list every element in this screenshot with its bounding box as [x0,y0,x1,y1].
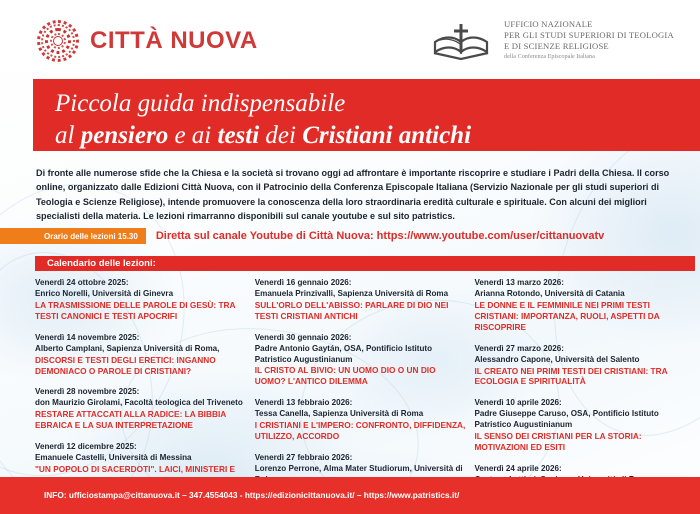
lesson-date: Venerdì 30 gennaio 2026: [255,333,466,344]
lesson-date: Venerdì 10 aprile 2026: [474,398,695,409]
title-seg-e-ai: e ai [168,122,217,149]
lesson-date: Venerdì 14 novembre 2025: [35,333,246,344]
calendar-heading: Calendario delle lezioni: [35,256,695,271]
lesson-date: Venerdì 24 ottobre 2025: [35,278,246,289]
ufficio-nazionale-logo: UFFICIO NAZIONALE PER GLI STUDI SUPERIOR… [430,18,674,62]
citta-nuova-logo: CITTÀ NUOVA [37,20,258,62]
lesson-entry: Venerdì 13 marzo 2026: Arianna Rotondo, … [474,278,695,333]
ufficio-line-3: E DI SCIENZE RELIGIOSE [504,41,674,52]
lesson-title: LE DONNE E IL FEMMINILE NEI PRIMI TESTI … [474,300,695,333]
title-line-1: Piccola guida indispensabile [55,88,700,120]
ufficio-line-1: UFFICIO NAZIONALE [504,19,674,30]
lesson-entry: Venerdì 27 marzo 2026: Alessandro Capone… [474,344,695,388]
lesson-date: Venerdì 12 dicembre 2025: [35,442,246,453]
title-seg-cristiani-antichi: Cristiani antichi [302,122,471,149]
title-seg-dei: dei [259,122,302,149]
lesson-title: I CRISTIANI E L'IMPERO: CONFRONTO, DIFFI… [255,420,466,442]
poster-title-band: Piccola guida indispensabile al pensiero… [33,79,700,151]
ufficio-nazionale-text: UFFICIO NAZIONALE PER GLI STUDI SUPERIOR… [504,19,674,61]
lesson-date: Venerdì 28 novembre 2025: [35,387,246,398]
title-line-2: al pensiero e ai testi dei Cristiani ant… [55,120,700,152]
ufficio-line-4: della Conferenza Episcopale Italiana [504,53,674,61]
poster-canvas: CITTÀ NUOVA UFFICIO NAZIONALE PER GLI ST… [0,0,700,514]
lesson-entry: Venerdì 10 aprile 2026: Padre Giuseppe C… [474,398,695,453]
lesson-entry: Venerdì 14 novembre 2025: Alberto Campla… [35,333,246,377]
lesson-date: Venerdì 27 marzo 2026: [474,344,695,355]
title-seg-pensiero: pensiero [81,122,169,149]
poster-footer: INFO: ufficiostampa@cittanuova.it – 347.… [0,477,700,514]
title-seg-testi: testi [218,122,260,149]
lesson-date: Venerdì 24 aprile 2026: [474,464,695,475]
citta-nuova-sunburst-icon [37,20,79,62]
lesson-speaker: Arianna Rotondo, Università di Catania [474,289,695,300]
lesson-date: Venerdì 27 febbraio 2026: [255,453,466,464]
calendar-column-3: Venerdì 13 marzo 2026: Arianna Rotondo, … [474,278,695,473]
lesson-speaker: Padre Antonio Gaytán, OSA, Pontificio Is… [255,344,466,366]
lesson-speaker: Enrico Norelli, Università di Ginevra [35,289,246,300]
lesson-speaker: Alberto Camplani, Sapienza Università di… [35,344,246,355]
open-book-cross-icon [430,18,492,62]
lesson-speaker: Tessa Canella, Sapienza Università di Ro… [255,409,466,420]
lesson-title: LA TRASMISSIONE DELLE PAROLE DI GESÙ: TR… [35,300,246,322]
live-schedule-row: Orario delle lezioni 15.30 Diretta sul c… [0,228,604,244]
orario-badge: Orario delle lezioni 15.30 [0,228,146,244]
lesson-title: SULL'ORLO DELL'ABISSO: PARLARE DI DIO NE… [255,300,466,322]
lesson-title: DISCORSI E TESTI DEGLI ERETICI: INGANNO … [35,355,246,377]
footer-contact-info[interactable]: INFO: ufficiostampa@cittanuova.it – 347.… [44,490,459,500]
title-seg-al: al [55,122,81,149]
ufficio-line-2: PER GLI STUDI SUPERIORI DI TEOLOGIA [504,30,674,41]
lesson-title: IL CREATO NEI PRIMI TESTI DEI CRISTIANI:… [474,366,695,388]
lesson-title: IL SENSO DEI CRISTIANI PER LA STORIA: MO… [474,431,695,453]
lesson-date: Venerdì 16 gennaio 2026: [255,278,466,289]
lesson-entry: Venerdì 28 novembre 2025: don Maurizio G… [35,387,246,431]
lesson-entry: Venerdì 24 ottobre 2025: Enrico Norelli,… [35,278,246,322]
lesson-speaker: Emanuele Castelli, Università di Messina [35,453,246,464]
brand-name: CITTÀ NUOVA [90,27,258,55]
lesson-title: RESTARE ATTACCATI ALLA RADICE: LA BIBBIA… [35,409,246,431]
calendar-column-1: Venerdì 24 ottobre 2025: Enrico Norelli,… [35,278,246,473]
lesson-speaker: don Maurizio Girolami, Facoltà teologica… [35,398,246,409]
intro-paragraph: Di fronte alle numerose sfide che la Chi… [36,166,686,223]
lesson-entry: Venerdì 30 gennaio 2026: Padre Antonio G… [255,333,466,388]
lesson-speaker: Alessandro Capone, Università del Salent… [474,355,695,366]
calendar-columns: Venerdì 24 ottobre 2025: Enrico Norelli,… [35,278,695,473]
lesson-date: Venerdì 13 febbraio 2026: [255,398,466,409]
lesson-date: Venerdì 13 marzo 2026: [474,278,695,289]
youtube-live-link[interactable]: Diretta sul canale Youtube di Città Nuov… [146,228,604,244]
lesson-entry: Venerdì 16 gennaio 2026: Emanuela Prinzi… [255,278,466,322]
lesson-title: IL CRISTO AL BIVIO: UN UOMO DIO O UN DIO… [255,365,466,387]
lesson-speaker: Padre Giuseppe Caruso, OSA, Pontificio I… [474,409,695,431]
lesson-entry: Venerdì 13 febbraio 2026: Tessa Canella,… [255,398,466,442]
lesson-speaker: Emanuela Prinzivalli, Sapienza Universit… [255,289,466,300]
poster-header: CITTÀ NUOVA UFFICIO NAZIONALE PER GLI ST… [0,0,700,72]
calendar-column-2: Venerdì 16 gennaio 2026: Emanuela Prinzi… [255,278,466,473]
